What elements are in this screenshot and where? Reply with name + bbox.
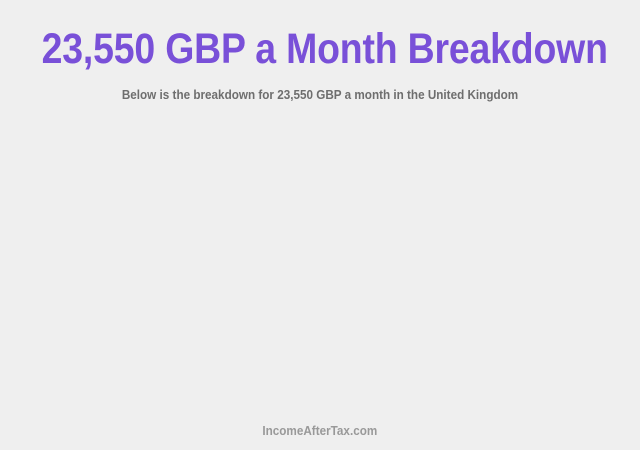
page-footer: IncomeAfterTax.com [0, 422, 640, 440]
chart-area [0, 110, 640, 405]
page-subtitle: Below is the breakdown for 23,550 GBP a … [32, 88, 608, 101]
footer-brand-label: IncomeAfterTax.com [263, 424, 378, 437]
chart-empty-placeholder [0, 110, 640, 405]
breakdown-page: 23,550 GBP a Month Breakdown Below is th… [0, 0, 640, 450]
page-title: 23,550 GBP a Month Breakdown [42, 28, 599, 71]
